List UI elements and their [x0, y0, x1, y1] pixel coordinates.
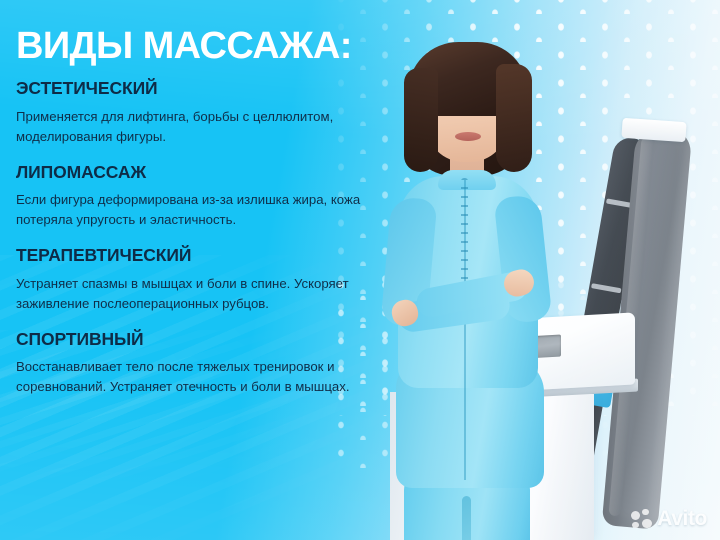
page-title: ВИДЫ МАССАЖА: — [16, 27, 438, 65]
avito-logo-icon — [631, 509, 652, 530]
section-sport: СПОРТИВНЫЙ Восстанавливает тело после тя… — [16, 331, 438, 398]
section-heading: ТЕРАПЕВТИЧЕСКИЙ — [16, 247, 438, 265]
section-body: Если фигура деформирована из-за излишка … — [16, 190, 408, 230]
section-body: Применяется для лифтинга, борьбы с целлю… — [16, 107, 408, 147]
model-hair-right — [496, 64, 532, 172]
avito-wordmark: Avito — [657, 507, 707, 531]
model-lips — [455, 132, 481, 141]
section-body: Восстанавливает тело после тяжелых трени… — [16, 357, 408, 397]
section-lipomassage: ЛИПОМАССАЖ Если фигура деформирована из-… — [16, 164, 438, 231]
section-body: Устраняет спазмы в мышцах и боли в спине… — [16, 274, 408, 314]
section-heading: СПОРТИВНЫЙ — [16, 331, 438, 349]
sleeve-strap — [591, 283, 621, 293]
section-heading: ЭСТЕТИЧЕСКИЙ — [16, 80, 438, 98]
section-heading: ЛИПОМАССАЖ — [16, 164, 438, 182]
model-leg-gap — [462, 496, 471, 540]
section-therapeutic: ТЕРАПЕВТИЧЕСКИЙ Устраняет спазмы в мышца… — [16, 247, 438, 314]
text-content: ВИДЫ МАССАЖА: ЭСТЕТИЧЕСКИЙ Применяется д… — [0, 0, 438, 540]
section-aesthetic: ЭСТЕТИЧЕСКИЙ Применяется для лифтинга, б… — [16, 80, 438, 147]
massage-types-poster: nart — [0, 0, 720, 540]
avito-watermark: Avito — [631, 507, 707, 531]
